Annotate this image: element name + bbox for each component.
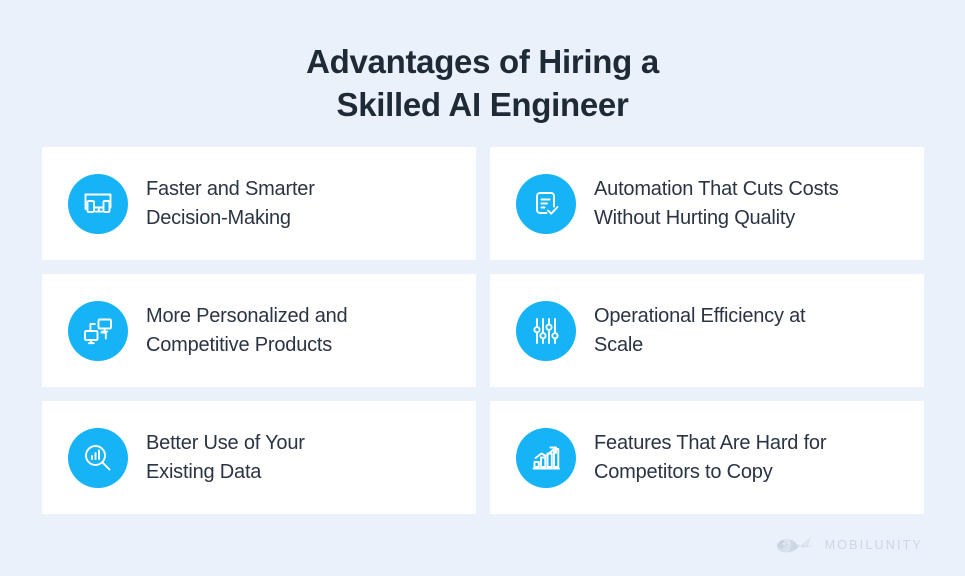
network-monitors-icon	[68, 301, 128, 361]
advantage-card-text: Automation That Cuts Costs Without Hurti…	[594, 175, 839, 233]
brand-logo-text: MOBILUNITY	[825, 538, 923, 552]
infographic-page: Advantages of Hiring a Skilled AI Engine…	[0, 0, 965, 576]
advantage-text-line-2: Competitors to Copy	[594, 461, 773, 483]
advantage-text-line-1: More Personalized and	[146, 305, 347, 327]
advantage-text-line-1: Faster and Smarter	[146, 178, 315, 200]
advantage-card-text: Features That Are Hard for Competitors t…	[594, 429, 826, 487]
sliders-icon	[516, 301, 576, 361]
advantage-card-text: Faster and Smarter Decision-Making	[146, 175, 315, 233]
advantage-text-line-1: Better Use of Your	[146, 432, 305, 454]
advantage-text-line-1: Features That Are Hard for	[594, 432, 826, 454]
advantage-card-operational-efficiency: Operational Efficiency at Scale	[490, 274, 924, 387]
page-title-line-2: Skilled AI Engineer	[0, 83, 965, 126]
advantage-text-line-2: Decision-Making	[146, 207, 291, 229]
advantage-card-better-use-of-data: Better Use of Your Existing Data	[42, 401, 476, 514]
advantage-text-line-2: Without Hurting Quality	[594, 207, 795, 229]
advantages-grid: Faster and Smarter Decision-Making Autom…	[42, 147, 924, 514]
advantage-text-line-1: Automation That Cuts Costs	[594, 178, 839, 200]
advantage-text-line-2: Competitive Products	[146, 334, 332, 356]
advantage-card-text: Better Use of Your Existing Data	[146, 429, 305, 487]
page-title-line-1: Advantages of Hiring a	[0, 40, 965, 83]
magnifier-chart-icon	[68, 428, 128, 488]
advantage-text-line-1: Operational Efficiency at	[594, 305, 805, 327]
advantage-card-personalized-products: More Personalized and Competitive Produc…	[42, 274, 476, 387]
document-check-icon	[516, 174, 576, 234]
whale-icon	[774, 534, 816, 556]
advantage-card-faster-smarter-decision-making: Faster and Smarter Decision-Making	[42, 147, 476, 260]
advantage-card-hard-to-copy-features: Features That Are Hard for Competitors t…	[490, 401, 924, 514]
advantage-text-line-2: Existing Data	[146, 461, 261, 483]
advantage-card-automation-cuts-costs: Automation That Cuts Costs Without Hurti…	[490, 147, 924, 260]
advantage-card-text: Operational Efficiency at Scale	[594, 302, 805, 360]
growth-chart-icon	[516, 428, 576, 488]
devices-icon	[68, 174, 128, 234]
brand-logo: MOBILUNITY	[774, 534, 923, 556]
advantage-card-text: More Personalized and Competitive Produc…	[146, 302, 347, 360]
advantage-text-line-2: Scale	[594, 334, 643, 356]
page-title: Advantages of Hiring a Skilled AI Engine…	[0, 40, 965, 126]
